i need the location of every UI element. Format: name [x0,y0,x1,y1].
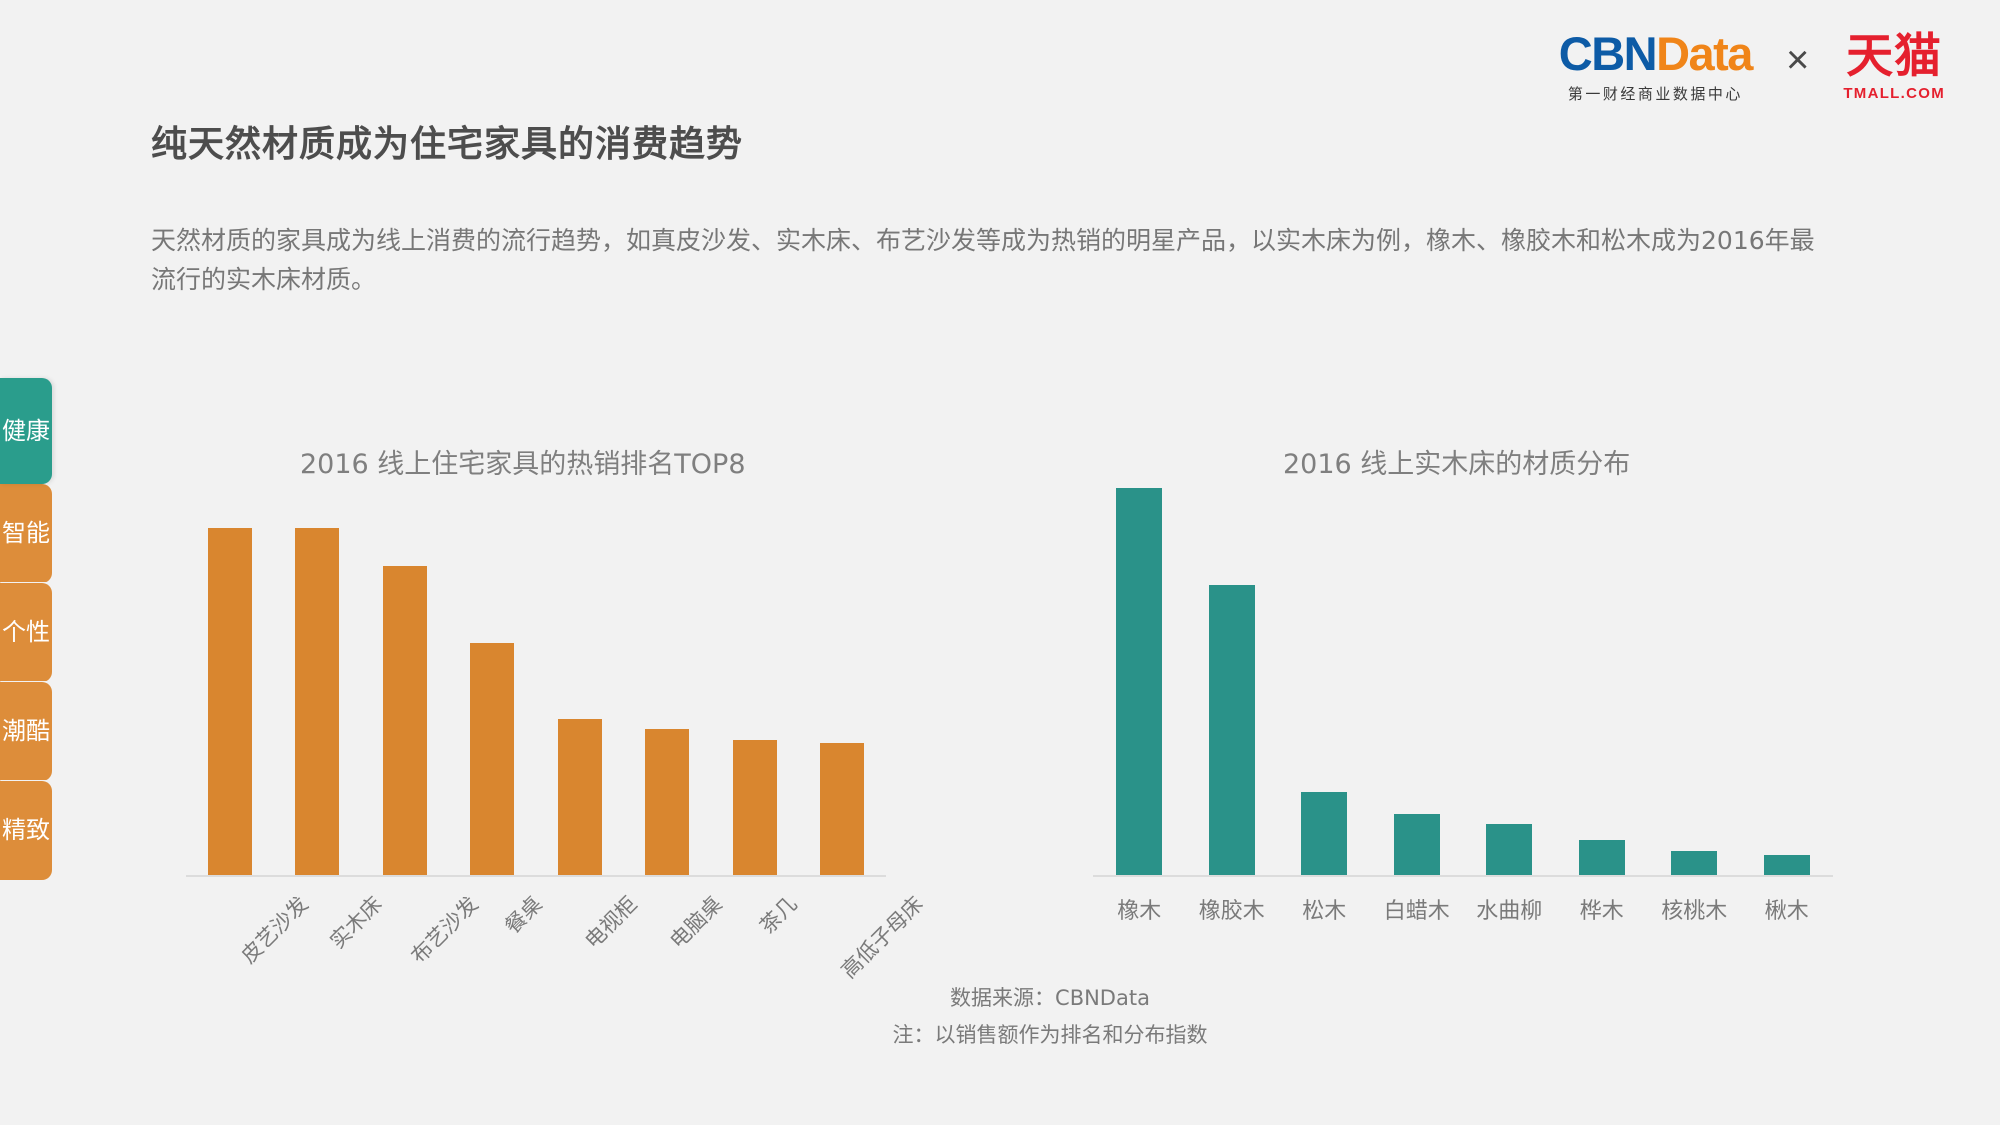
x-axis-label: 楸木 [1741,893,1834,925]
bar-高低子母床[interactable] [820,743,864,875]
right-chart-title: 2016 线上实木床的材质分布 [1283,442,1630,481]
bar-slot [274,528,362,875]
x-label-slot: 楸木 [1741,893,1834,925]
tmall-logo: 天猫 TMALL.COM [1843,33,1945,102]
bar-水曲柳[interactable] [1486,824,1532,875]
bar-slot [1371,488,1464,875]
bar-series [186,528,886,875]
page-description: 天然材质的家具成为线上消费的流行趋势，如真皮沙发、实木床、布艺沙发等成为热销的明… [151,222,1831,300]
x-label-slot: 水曲柳 [1463,893,1556,925]
sidebar-item-gexing[interactable]: 个性 [0,583,52,682]
bar-slot [1093,488,1186,875]
bar-slot [186,528,274,875]
cbndata-orange-text: Data [1656,27,1752,80]
data-source-text: 数据来源：CBNData [790,980,1310,1017]
sidebar-item-zhineng[interactable]: 智能 [0,484,52,583]
bar-series [1093,488,1833,875]
bar-slot [449,528,537,875]
cbndata-wordmark: CBNData [1559,30,1752,77]
bar-slot [1278,488,1371,875]
sidebar-item-label: 个性 [2,619,50,645]
sidebar-item-label: 精致 [2,817,50,843]
bar-实木床[interactable] [295,528,339,875]
x-label-slot: 核桃木 [1648,893,1741,925]
x-axis-label: 核桃木 [1648,893,1741,925]
x-axis-label: 白蜡木 [1371,893,1464,925]
x-label-slot: 松木 [1278,893,1371,925]
footer-notes: 数据来源：CBNData 注：以销售额作为排名和分布指数 [790,980,1310,1054]
brand-logo-bar: CBNData 第一财经商业数据中心 × 天猫 TMALL.COM [1559,30,1945,104]
bar-橡胶木[interactable] [1209,585,1255,875]
bar-slot [799,528,887,875]
bar-布艺沙发[interactable] [383,566,427,875]
bar-slot [1556,488,1649,875]
x-label-slot: 皮艺沙发 [186,889,271,919]
x-axis-label: 高低子母床 [834,889,929,984]
bar-slot [1648,488,1741,875]
bar-slot [624,528,712,875]
slide-root: CBNData 第一财经商业数据中心 × 天猫 TMALL.COM 纯天然材质成… [0,0,2000,1125]
furniture-top8-bar-chart [186,530,886,877]
bar-白蜡木[interactable] [1394,814,1440,875]
bar-slot [536,528,624,875]
sidebar-item-label: 潮酷 [2,718,50,744]
x-axis-line [186,875,886,877]
left-chart-x-labels: 皮艺沙发实木床布艺沙发餐桌电视柜电脑桌茶几高低子母床 [186,889,886,919]
x-axis-label: 橡木 [1093,893,1186,925]
bar-核桃木[interactable] [1671,851,1717,875]
sidebar-item-label: 健康 [2,418,50,444]
x-axis-line [1093,875,1833,877]
x-axis-label: 松木 [1278,893,1371,925]
bar-slot [361,528,449,875]
sidebar-item-label: 智能 [2,520,50,546]
tmall-latin-wordmark: TMALL.COM [1843,85,1945,102]
left-chart-title: 2016 线上住宅家具的热销排名TOP8 [300,442,746,481]
bar-茶几[interactable] [733,740,777,875]
x-axis-label: 桦木 [1556,893,1649,925]
tmall-chinese-wordmark: 天猫 [1846,33,1942,80]
right-chart-x-labels: 橡木橡胶木松木白蜡木水曲柳桦木核桃木楸木 [1093,893,1833,925]
bar-橡木[interactable] [1116,488,1162,875]
cbndata-blue-text: CBN [1559,27,1656,80]
bar-slot [1186,488,1279,875]
index-note-text: 注：以销售额作为排名和分布指数 [790,1017,1310,1054]
sidebar-item-chaoku[interactable]: 潮酷 [0,682,52,781]
cbndata-logo: CBNData 第一财经商业数据中心 [1559,30,1752,104]
bar-slot [1741,488,1834,875]
sidebar-item-jiankang[interactable]: 健康 [0,378,52,484]
bar-电视柜[interactable] [558,719,602,875]
category-rail: 健康 智能 个性 潮酷 精致 [0,378,52,880]
cbndata-subtitle: 第一财经商业数据中心 [1568,83,1743,104]
solid-wood-bed-material-bar-chart [1093,490,1833,877]
x-label-slot: 桦木 [1556,893,1649,925]
bar-楸木[interactable] [1764,855,1810,875]
x-axis-label: 水曲柳 [1463,893,1556,925]
bar-slot [1463,488,1556,875]
x-label-slot: 白蜡木 [1371,893,1464,925]
bar-slot [711,528,799,875]
bar-皮艺沙发[interactable] [208,528,252,875]
sidebar-item-jingzhi[interactable]: 精致 [0,781,52,880]
bar-餐桌[interactable] [470,643,514,875]
x-label-slot: 橡木 [1093,893,1186,925]
cross-icon: × [1786,40,1809,94]
bar-松木[interactable] [1301,792,1347,875]
bar-桦木[interactable] [1579,840,1625,875]
page-title: 纯天然材质成为住宅家具的消费趋势 [151,115,743,167]
x-axis-label: 橡胶木 [1186,893,1279,925]
bar-电脑桌[interactable] [645,729,689,875]
x-label-slot: 橡胶木 [1186,893,1279,925]
